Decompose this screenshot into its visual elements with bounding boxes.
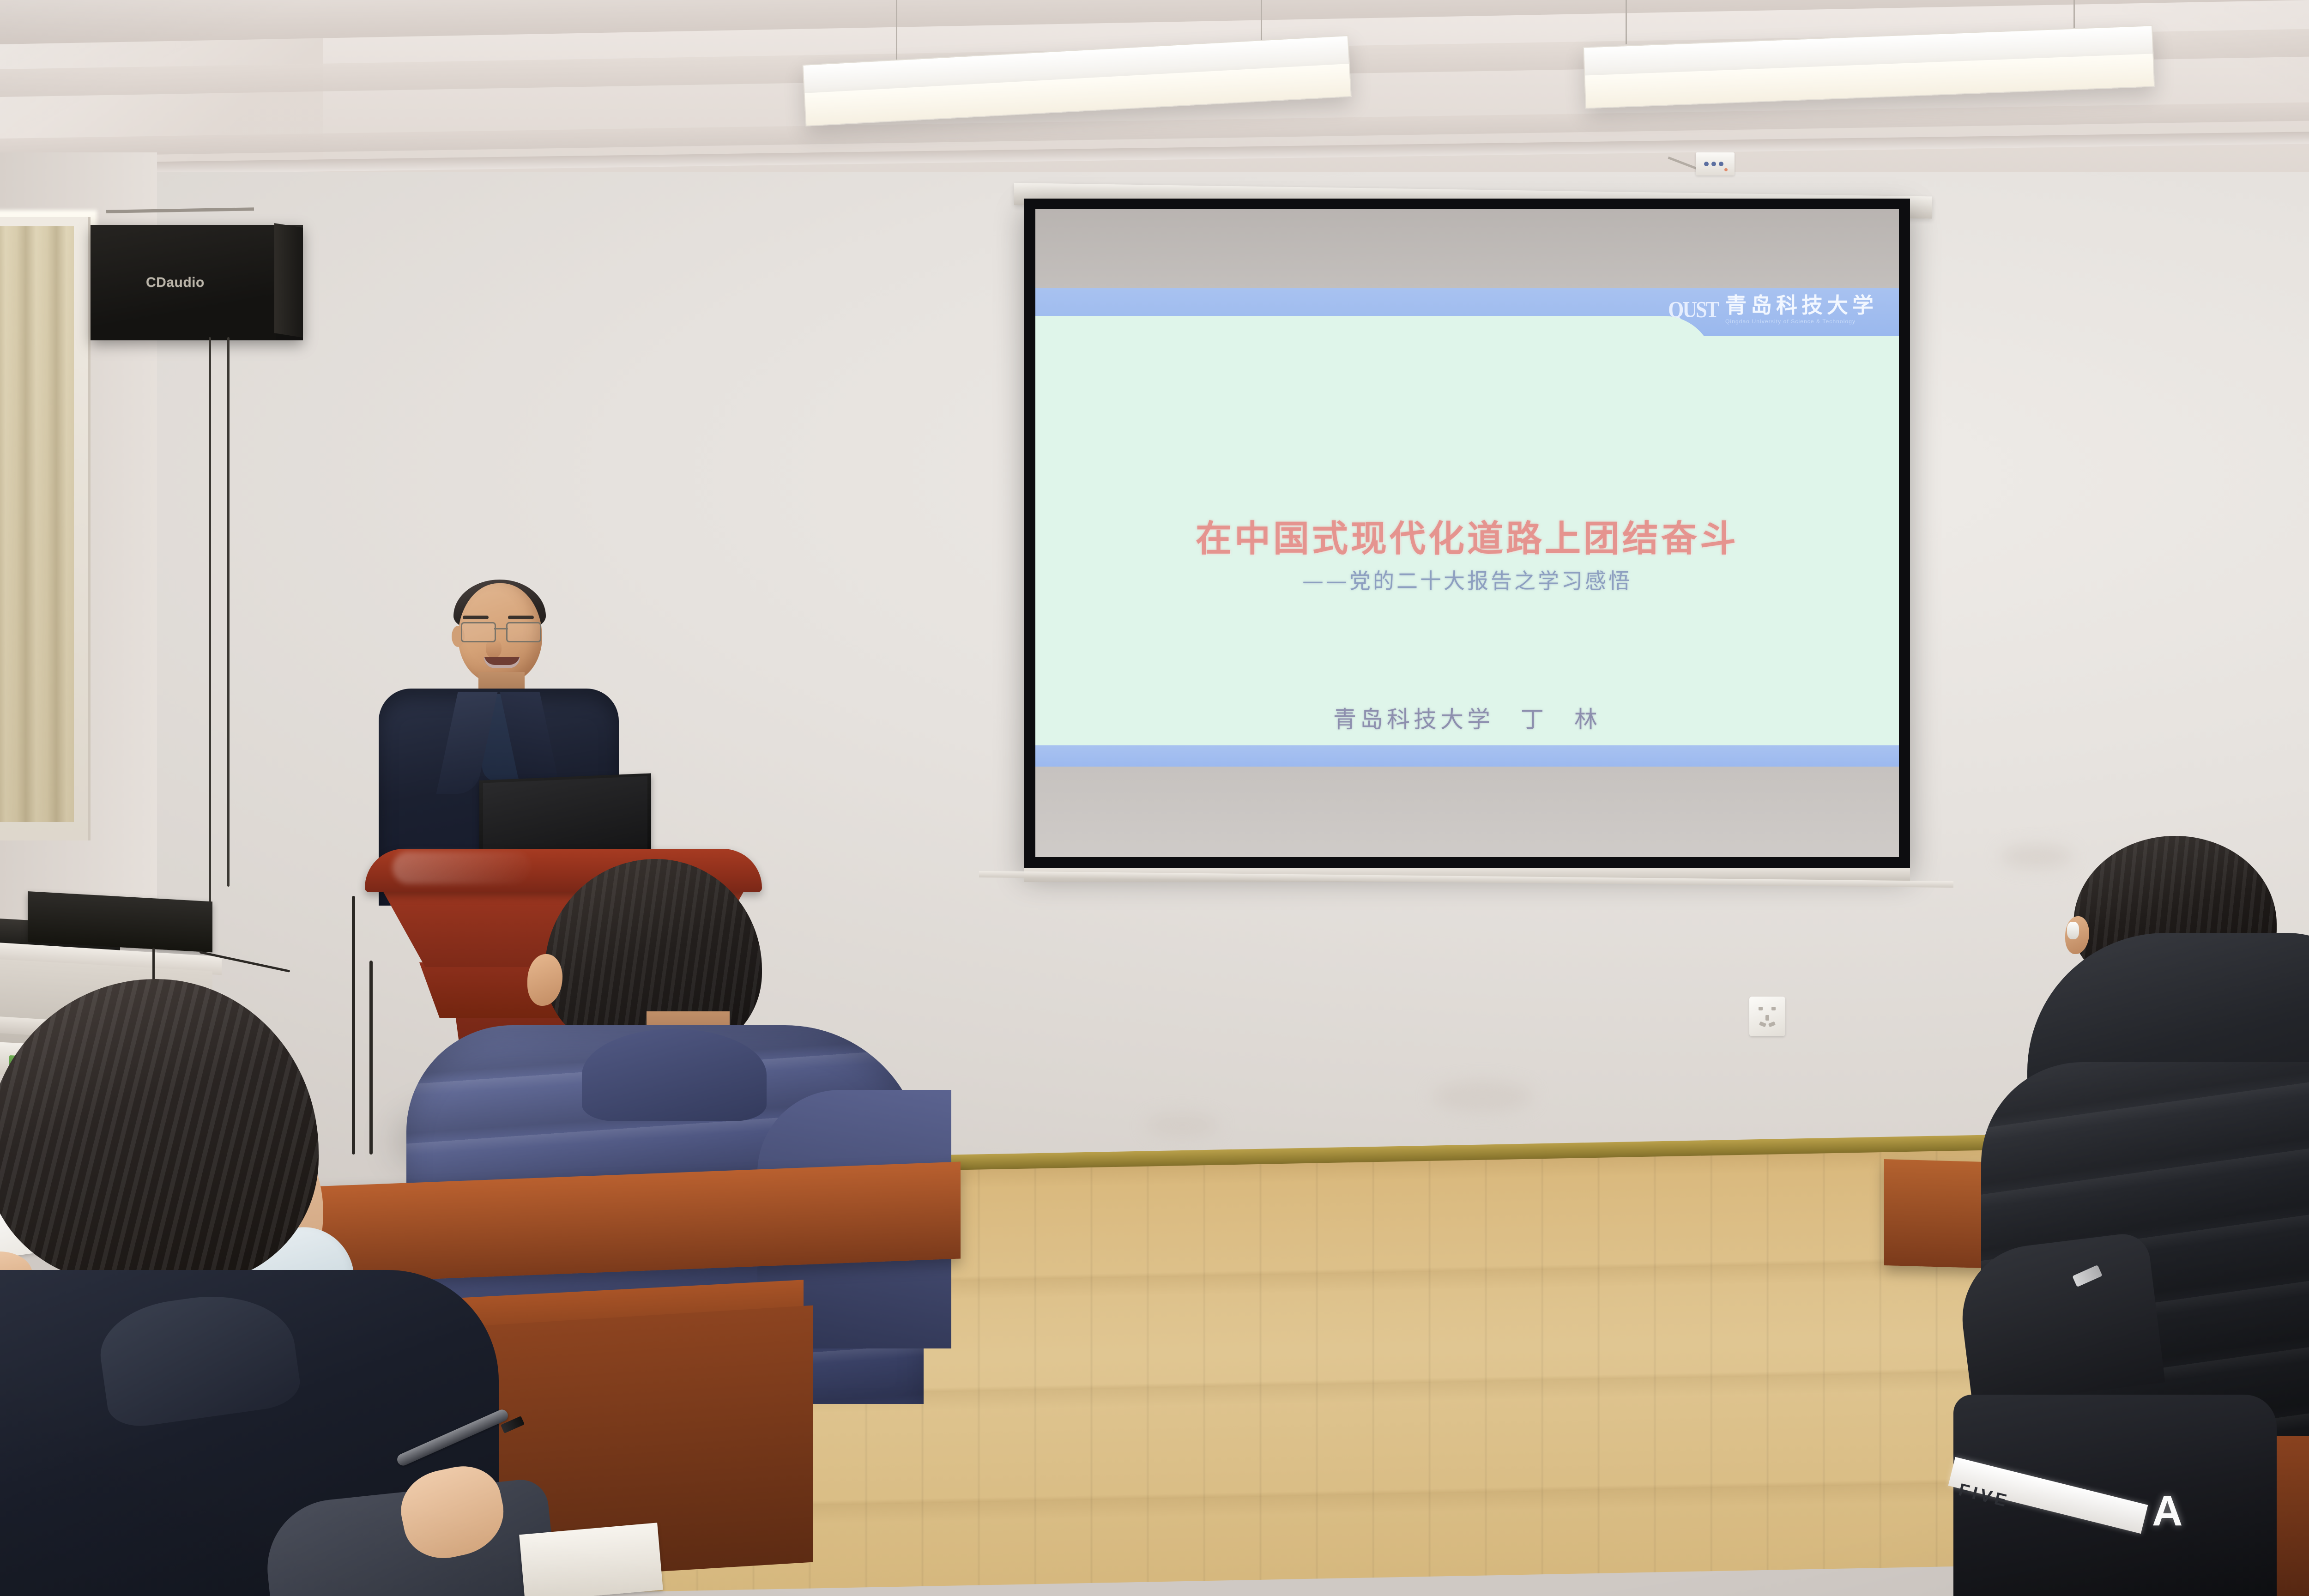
outlet-slot [1771,1007,1776,1010]
presenter-brow [463,616,489,619]
earbud-icon [2067,922,2079,939]
lecture-hall-scene: CDaudio QUST [0,0,2309,1596]
speaker-side-panel [274,223,303,338]
logo-text-block: 青岛科技大学 Qingdao University of Science & T… [1725,295,1878,325]
av-device-primary [28,891,212,952]
outlet-slot [1768,1022,1776,1028]
attendee-front-left-hair [0,979,319,1284]
outlet-slot [1765,1015,1769,1021]
ir-power-led [1724,168,1728,171]
letterbox-top [1035,209,1899,288]
projection-screen: QUST 青岛科技大学 Qingdao University of Scienc… [1024,199,1910,868]
attendee-front-left [0,979,619,1596]
slide-subtitle: ——党的二十大报告之学习感悟 [1035,564,1899,595]
ir-receiver [1696,152,1735,175]
outlet-slot [1759,1022,1766,1028]
laptop-screen [483,776,647,858]
slide-footer-band [1035,745,1899,767]
ir-indicator [1704,162,1709,166]
outlet-slot [1759,1007,1763,1010]
ir-indicator [1719,162,1723,166]
slide-body: 在中国式现代化道路上团结奋斗 ——党的二十大报告之学习感悟 青岛科技大学 丁 林… [1035,336,1899,745]
presenter-mouth [484,657,520,668]
logo-english-name: Qingdao University of Science & Technolo… [1725,318,1878,325]
attendee-right [1935,836,2309,1436]
wall-smudge [1145,1113,1219,1138]
projection-surface: QUST 青岛科技大学 Qingdao University of Scienc… [1035,209,1899,857]
ir-indicator [1711,162,1716,166]
slide-title: 在中国式现代化道路上团结奋斗 [1035,510,1899,562]
presenter-nose [486,639,502,658]
glasses-lens-right [506,622,541,642]
logo-chinese-name: 青岛科技大学 [1725,295,1878,316]
sweatpants-letter: A [2152,1487,2182,1536]
wall-speaker: CDaudio [91,225,303,340]
speaker-cable [209,337,211,914]
window-curtain [0,226,74,822]
power-outlet [1749,997,1785,1036]
light-cord [896,0,897,60]
presentation-slide: QUST 青岛科技大学 Qingdao University of Scienc… [1035,288,1899,767]
wall-smudge [1432,1081,1533,1113]
presenter-brow [508,616,534,619]
light-cord [1626,0,1627,44]
slide-author: 青岛科技大学 丁 林 [1035,701,1899,734]
speaker-brand-label: CDaudio [146,275,205,290]
attendee-right-legs: FIVE A [1953,1395,2277,1596]
notebook [519,1523,663,1596]
speaker-cable [227,337,230,887]
presenter-glasses [460,622,542,641]
letterbox-bottom [1035,767,1899,857]
university-logo: QUST 青岛科技大学 Qingdao University of Scienc… [1668,295,1878,325]
